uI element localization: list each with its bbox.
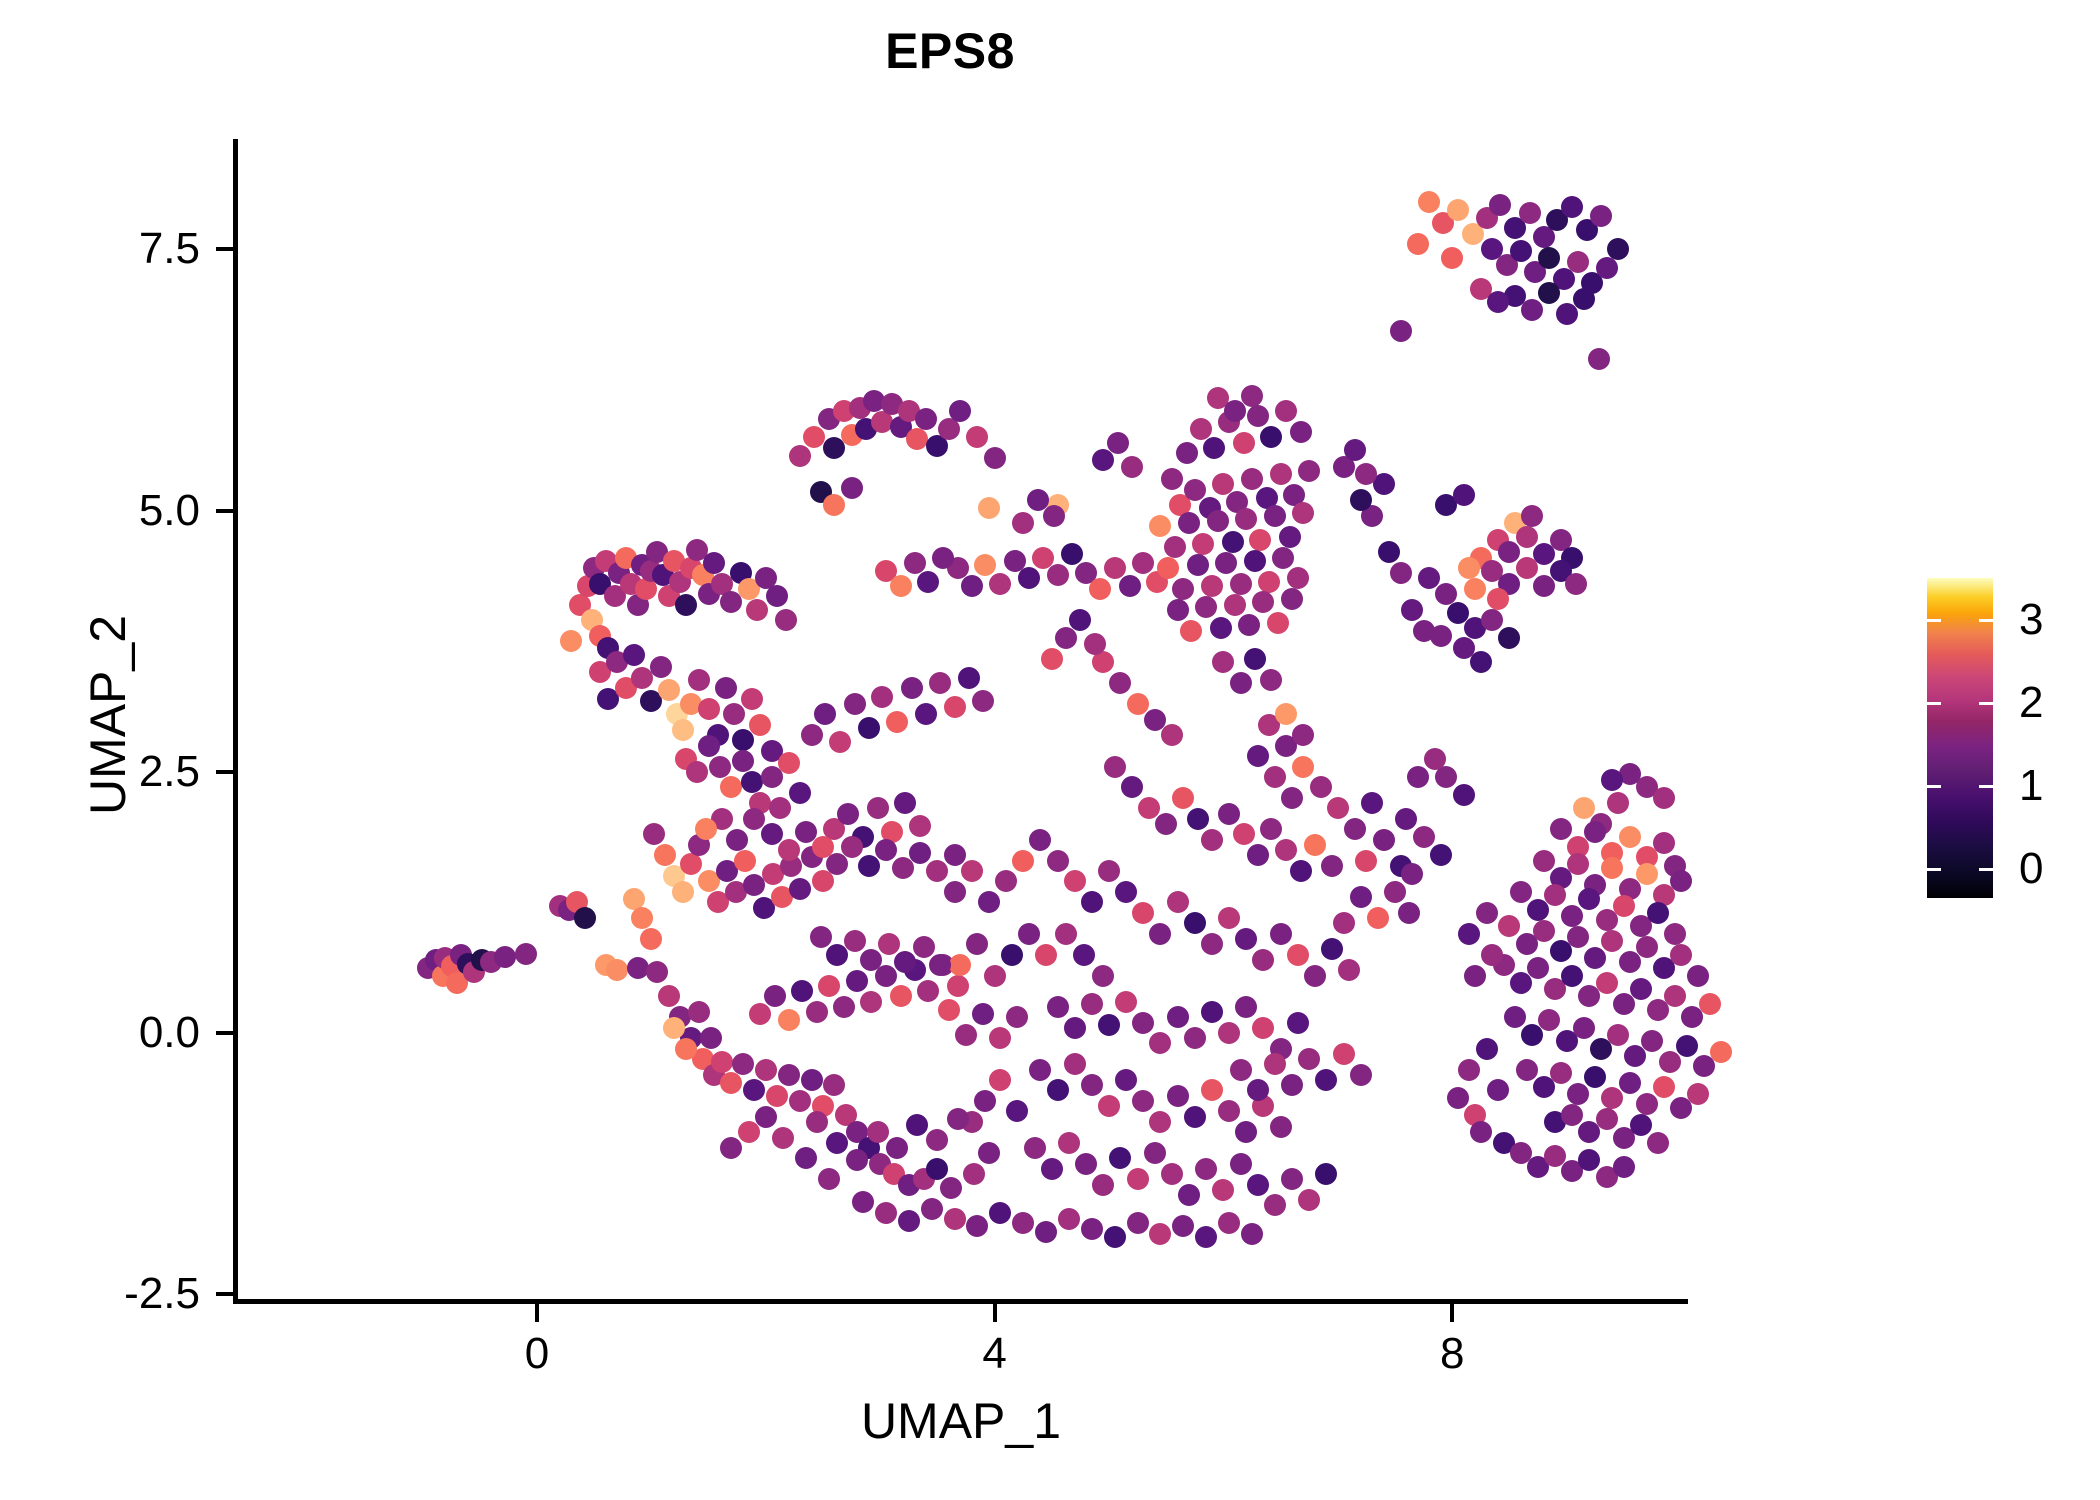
scatter-point: [1584, 1066, 1606, 1088]
scatter-point: [984, 965, 1006, 987]
scatter-point: [749, 714, 771, 736]
scatter-point: [1233, 432, 1255, 454]
scatter-point: [1075, 1153, 1097, 1175]
scatter-point: [1670, 944, 1692, 966]
scatter-point: [703, 552, 725, 574]
scatter-point: [1292, 502, 1314, 524]
scatter-point: [1596, 257, 1618, 279]
y-tick-mark: [216, 770, 234, 774]
scatter-point: [1222, 531, 1244, 553]
scatter-point: [1636, 863, 1658, 885]
scatter-point: [658, 679, 680, 701]
scatter-point: [1201, 933, 1223, 955]
scatter-point: [1567, 926, 1589, 948]
scatter-point: [1184, 912, 1206, 934]
scatter-point: [1218, 907, 1240, 929]
colorbar-tick-mark: [1927, 702, 1941, 705]
scatter-point: [1149, 1223, 1171, 1245]
scatter-point: [1029, 829, 1051, 851]
scatter-point: [1041, 1158, 1063, 1180]
colorbar-tick-mark: [1979, 619, 1993, 622]
scatter-point: [841, 836, 863, 858]
scatter-point: [860, 991, 882, 1013]
scatter-point: [1201, 829, 1223, 851]
scatter-point: [1344, 818, 1366, 840]
scatter-point: [1064, 1053, 1086, 1075]
scatter-point: [1121, 456, 1143, 478]
scatter-point: [961, 860, 983, 882]
scatter-point: [1588, 348, 1610, 370]
scatter-point: [875, 839, 897, 861]
scatter-point: [1350, 489, 1372, 511]
scatter-point: [1561, 965, 1583, 987]
scatter-point: [1212, 1179, 1234, 1201]
scatter-point: [1653, 787, 1675, 809]
scatter-point: [921, 1198, 943, 1220]
scatter-point: [926, 1129, 948, 1151]
scatter-point: [929, 954, 951, 976]
scatter-point: [1510, 972, 1532, 994]
scatter-point: [1190, 418, 1212, 440]
scatter-point: [1413, 826, 1435, 848]
scatter-point: [940, 1177, 962, 1199]
scatter-point: [1619, 951, 1641, 973]
scatter-point: [698, 698, 720, 720]
scatter-point: [801, 724, 823, 746]
scatter-point: [1613, 895, 1635, 917]
scatter-point: [1115, 1069, 1137, 1091]
scatter-point: [1192, 533, 1214, 555]
scatter-point: [1104, 756, 1126, 778]
scatter-point: [1218, 803, 1240, 825]
scatter-point: [906, 1114, 928, 1136]
scatter-point: [818, 975, 840, 997]
scatter-point: [1249, 529, 1271, 551]
scatter-point: [1073, 944, 1095, 966]
scatter-point: [1447, 1087, 1469, 1109]
scatter-point: [1115, 881, 1137, 903]
scatter-point: [1556, 303, 1578, 325]
scatter-point: [778, 839, 800, 861]
colorbar-tick-mark: [1979, 868, 1993, 871]
scatter-point: [1041, 648, 1063, 670]
scatter-point: [1344, 439, 1366, 461]
scatter-point: [1047, 996, 1069, 1018]
scatter-point: [686, 761, 708, 783]
scatter-point: [627, 957, 649, 979]
scatter-point: [898, 1210, 920, 1232]
scatter-point: [1098, 1095, 1120, 1117]
scatter-point: [1058, 1132, 1080, 1154]
scatter-point: [1596, 972, 1618, 994]
scatter-point: [1521, 299, 1543, 321]
scatter-point: [515, 943, 537, 965]
scatter-point: [1064, 870, 1086, 892]
scatter-point: [826, 944, 848, 966]
colorbar-gradient: [1927, 578, 1993, 898]
scatter-point: [1167, 1006, 1189, 1028]
scatter-point: [810, 926, 832, 948]
y-axis-line: [233, 139, 238, 1304]
scatter-point: [1710, 1041, 1732, 1063]
scatter-point: [826, 1132, 848, 1154]
scatter-point: [1584, 947, 1606, 969]
scatter-point: [932, 547, 954, 569]
scatter-point: [789, 782, 811, 804]
scatter-point: [1161, 1163, 1183, 1185]
scatter-point: [837, 803, 859, 825]
scatter-point: [1350, 886, 1372, 908]
umap-feature-plot: EPS8 -2.50.02.55.07.5 048 UMAP_1 UMAP_2 …: [0, 0, 2100, 1500]
scatter-point: [650, 656, 672, 678]
scatter-point: [944, 1208, 966, 1230]
scatter-point: [715, 677, 737, 699]
scatter-point: [1184, 479, 1206, 501]
scatter-point: [844, 930, 866, 952]
scatter-point: [818, 1168, 840, 1190]
colorbar-tick-mark: [1927, 619, 1941, 622]
scatter-point: [675, 594, 697, 616]
scatter-point: [1670, 870, 1692, 892]
colorbar-tick-label: 3: [2019, 598, 2043, 642]
scatter-point: [658, 985, 680, 1007]
y-tick-mark: [216, 1031, 234, 1035]
scatter-point: [1476, 1038, 1498, 1060]
scatter-point: [1636, 936, 1658, 958]
scatter-point: [1333, 912, 1355, 934]
scatter-point: [643, 823, 665, 845]
scatter-point: [1264, 766, 1286, 788]
scatter-point: [1167, 891, 1189, 913]
scatter-point: [1055, 923, 1077, 945]
scatter-point: [1235, 508, 1257, 530]
scatter-point: [1092, 1174, 1114, 1196]
x-tick-label: 4: [895, 1332, 1095, 1376]
scatter-point: [1244, 550, 1266, 572]
scatter-point: [1058, 1208, 1080, 1230]
scatter-point: [938, 999, 960, 1021]
scatter-point: [1107, 432, 1129, 454]
scatter-point: [858, 855, 880, 877]
scatter-point: [1264, 505, 1286, 527]
scatter-point: [1270, 1116, 1292, 1138]
scatter-point: [1533, 850, 1555, 872]
scatter-point: [1210, 617, 1232, 639]
scatter-point: [1390, 320, 1412, 342]
colorbar-tick-mark: [1927, 785, 1941, 788]
scatter-point: [1272, 547, 1294, 569]
scatter-point: [1573, 288, 1595, 310]
scatter-point: [1281, 787, 1303, 809]
scatter-point: [989, 573, 1011, 595]
scatter-point: [801, 1069, 823, 1091]
scatter-point: [1224, 400, 1246, 422]
y-tick-mark: [216, 247, 234, 251]
scatter-point: [1613, 993, 1635, 1015]
scatter-point: [1027, 489, 1049, 511]
scatter-point: [1287, 944, 1309, 966]
scatter-point: [1464, 965, 1486, 987]
scatter-point: [1567, 1083, 1589, 1105]
y-tick-label: -2.5: [0, 1272, 200, 1316]
scatter-point: [709, 756, 731, 778]
scatter-point: [1550, 1062, 1572, 1084]
scatter-point: [1561, 1104, 1583, 1126]
scatter-point: [1470, 651, 1492, 673]
scatter-point: [1384, 881, 1406, 903]
scatter-point: [1327, 797, 1349, 819]
scatter-point: [789, 1090, 811, 1112]
scatter-point: [1047, 564, 1069, 586]
scatter-point: [846, 970, 868, 992]
scatter-point: [1441, 247, 1463, 269]
scatter-point: [1516, 526, 1538, 548]
scatter-point: [1104, 1226, 1126, 1248]
scatter-point: [1119, 575, 1141, 597]
scatter-point: [1247, 844, 1269, 866]
scatter-point: [1127, 693, 1149, 715]
scatter-point: [833, 996, 855, 1018]
scatter-point: [1676, 1035, 1698, 1057]
scatter-point: [1064, 1017, 1086, 1039]
scatter-point: [1398, 902, 1420, 924]
scatter-point: [1573, 797, 1595, 819]
scatter-point: [741, 688, 763, 710]
scatter-point: [1601, 1087, 1623, 1109]
scatter-point: [1481, 944, 1503, 966]
scatter-point: [1636, 1093, 1658, 1115]
scatter-point: [1201, 575, 1223, 597]
scatter-point: [1567, 251, 1589, 273]
scatter-point: [1447, 199, 1469, 221]
scatter-point: [1132, 552, 1154, 574]
scatter-point: [826, 853, 848, 875]
page-title: EPS8: [0, 26, 1900, 76]
scatter-point: [1521, 505, 1543, 527]
y-tick-label: 7.5: [0, 227, 200, 271]
colorbar-tick-label: 2: [2019, 681, 2043, 725]
scatter-point: [1161, 468, 1183, 490]
scatter-point: [917, 571, 939, 593]
scatter-point: [955, 1024, 977, 1046]
scatter-point: [1270, 463, 1292, 485]
scatter-point: [1180, 620, 1202, 642]
scatter-point: [1104, 557, 1126, 579]
scatter-point: [1241, 385, 1263, 407]
scatter-point: [841, 477, 863, 499]
colorbar-tick-label: 0: [2019, 847, 2043, 891]
scatter-point: [1664, 923, 1686, 945]
scatter-point: [738, 1121, 760, 1143]
scatter-point: [929, 672, 951, 694]
scatter-point: [1230, 1059, 1252, 1081]
scatter-point: [1029, 1059, 1051, 1081]
scatter-point: [1055, 627, 1077, 649]
scatter-point: [1538, 247, 1560, 269]
scatter-point: [1195, 1158, 1217, 1180]
scatter-point: [1241, 468, 1263, 490]
scatter-point: [1407, 233, 1429, 255]
scatter-point: [1516, 1059, 1538, 1081]
scatter-point: [789, 878, 811, 900]
scatter-point: [1178, 512, 1200, 534]
scatter-point: [1647, 1132, 1669, 1154]
scatter-point: [947, 975, 969, 997]
scatter-point: [1367, 907, 1389, 929]
scatter-point: [1215, 552, 1237, 574]
scatter-point: [875, 1202, 897, 1224]
scatter-point: [1043, 505, 1065, 527]
scatter-point: [1167, 599, 1189, 621]
scatter-point: [1453, 784, 1475, 806]
scatter-point: [1573, 1017, 1595, 1039]
scatter-point: [1350, 1064, 1372, 1086]
scatter-point: [1687, 1083, 1709, 1105]
scatter-point: [1630, 978, 1652, 1000]
scatter-point: [867, 1121, 889, 1143]
scatter-point: [1238, 614, 1260, 636]
scatter-point: [1178, 1184, 1200, 1206]
scatter-point: [574, 907, 596, 929]
scatter-point: [886, 711, 908, 733]
scatter-point: [1453, 484, 1475, 506]
scatter-point: [1533, 920, 1555, 942]
x-axis-line: [233, 1299, 1688, 1304]
scatter-point: [1218, 1022, 1240, 1044]
scatter-point: [1310, 776, 1332, 798]
scatter-point: [1647, 902, 1669, 924]
scatter-point: [978, 1142, 1000, 1164]
scatter-point: [1230, 672, 1252, 694]
scatter-point: [1089, 578, 1111, 600]
scatter-point: [1333, 1043, 1355, 1065]
scatter-point: [1687, 965, 1709, 987]
scatter-point: [1533, 575, 1555, 597]
x-tick-mark: [993, 1304, 997, 1322]
scatter-point: [890, 575, 912, 597]
scatter-point: [680, 853, 702, 875]
scatter-point: [944, 696, 966, 718]
scatter-point: [734, 850, 756, 872]
scatter-point: [1653, 832, 1675, 854]
scatter-point: [1195, 596, 1217, 618]
scatter-point: [1127, 1168, 1149, 1190]
scatter-point: [1184, 1106, 1206, 1128]
scatter-point: [1304, 965, 1326, 987]
scatter-point: [700, 1027, 722, 1049]
scatter-point: [1035, 1221, 1057, 1243]
x-axis-title: UMAP_1: [237, 1396, 1685, 1446]
scatter-point: [1201, 1001, 1223, 1023]
scatter-point: [1081, 1074, 1103, 1096]
scatter-point: [1653, 1076, 1675, 1098]
scatter-point: [961, 575, 983, 597]
scatter-point: [1092, 965, 1114, 987]
scatter-point: [1144, 1142, 1166, 1164]
scatter-point: [1235, 996, 1257, 1018]
scatter-point: [944, 881, 966, 903]
scatter-point: [1132, 1012, 1154, 1034]
scatter-point: [1458, 923, 1480, 945]
scatter-point: [623, 644, 645, 666]
scatter-point: [1207, 510, 1229, 532]
scatter-point: [1516, 557, 1538, 579]
scatter-point: [778, 752, 800, 774]
scatter-point: [871, 686, 893, 708]
scatter-point: [1115, 991, 1137, 1013]
scatter-point: [755, 1059, 777, 1081]
scatter-point: [1187, 808, 1209, 830]
scatter-point: [1098, 860, 1120, 882]
scatter-point: [915, 408, 937, 430]
scatter-point: [1247, 745, 1269, 767]
colorbar-tick-label: 1: [2019, 764, 2043, 808]
scatter-point: [1032, 547, 1054, 569]
y-tick-mark: [216, 509, 234, 513]
scatter-point: [1292, 756, 1314, 778]
y-tick-mark: [216, 1292, 234, 1296]
scatter-point: [1230, 573, 1252, 595]
scatter-point: [1390, 562, 1412, 584]
scatter-point: [1247, 405, 1269, 427]
scatter-point: [1176, 442, 1198, 464]
scatter-point: [1279, 526, 1301, 548]
scatter-point: [844, 693, 866, 715]
scatter-point: [723, 703, 745, 725]
scatter-point: [1470, 1121, 1492, 1143]
scatter-point: [944, 844, 966, 866]
scatter-point: [1127, 1212, 1149, 1234]
scatter-point: [1699, 993, 1721, 1015]
scatter-point: [904, 552, 926, 574]
scatter-point: [1287, 1012, 1309, 1034]
scatter-point: [860, 949, 882, 971]
scatter-point: [1607, 1024, 1629, 1046]
colorbar-tick-mark: [1927, 868, 1941, 871]
scatter-point: [984, 447, 1006, 469]
x-tick-mark: [535, 1304, 539, 1322]
scatter-point: [1659, 1051, 1681, 1073]
scatter-point: [1247, 1174, 1269, 1196]
x-tick-mark: [1450, 1304, 1454, 1322]
scatter-point: [1224, 594, 1246, 616]
scatter-point: [769, 797, 791, 819]
scatter-point: [1258, 571, 1280, 593]
scatter-point: [1476, 902, 1498, 924]
scatter-point: [675, 1038, 697, 1060]
scatter-point: [1510, 240, 1532, 262]
scatter-point: [1184, 1027, 1206, 1049]
scatter-point: [1619, 1072, 1641, 1094]
scatter-point: [1430, 844, 1452, 866]
scatter-point: [958, 667, 980, 689]
scatter-point: [1047, 1079, 1069, 1101]
scatter-point: [746, 599, 768, 621]
scatter-point: [1630, 1114, 1652, 1136]
scatter-point: [755, 1106, 777, 1128]
scatter-point: [1024, 1137, 1046, 1159]
scatter-point: [1018, 923, 1040, 945]
scatter-point: [1132, 902, 1154, 924]
scatter-point: [1304, 834, 1326, 856]
y-axis-title: UMAP_2: [83, 315, 133, 1115]
scatter-point: [1187, 554, 1209, 576]
scatter-point: [1619, 826, 1641, 848]
scatter-point: [778, 1064, 800, 1086]
scatter-point: [858, 717, 880, 739]
scatter-point: [1613, 1156, 1635, 1178]
scatter-point: [913, 936, 935, 958]
